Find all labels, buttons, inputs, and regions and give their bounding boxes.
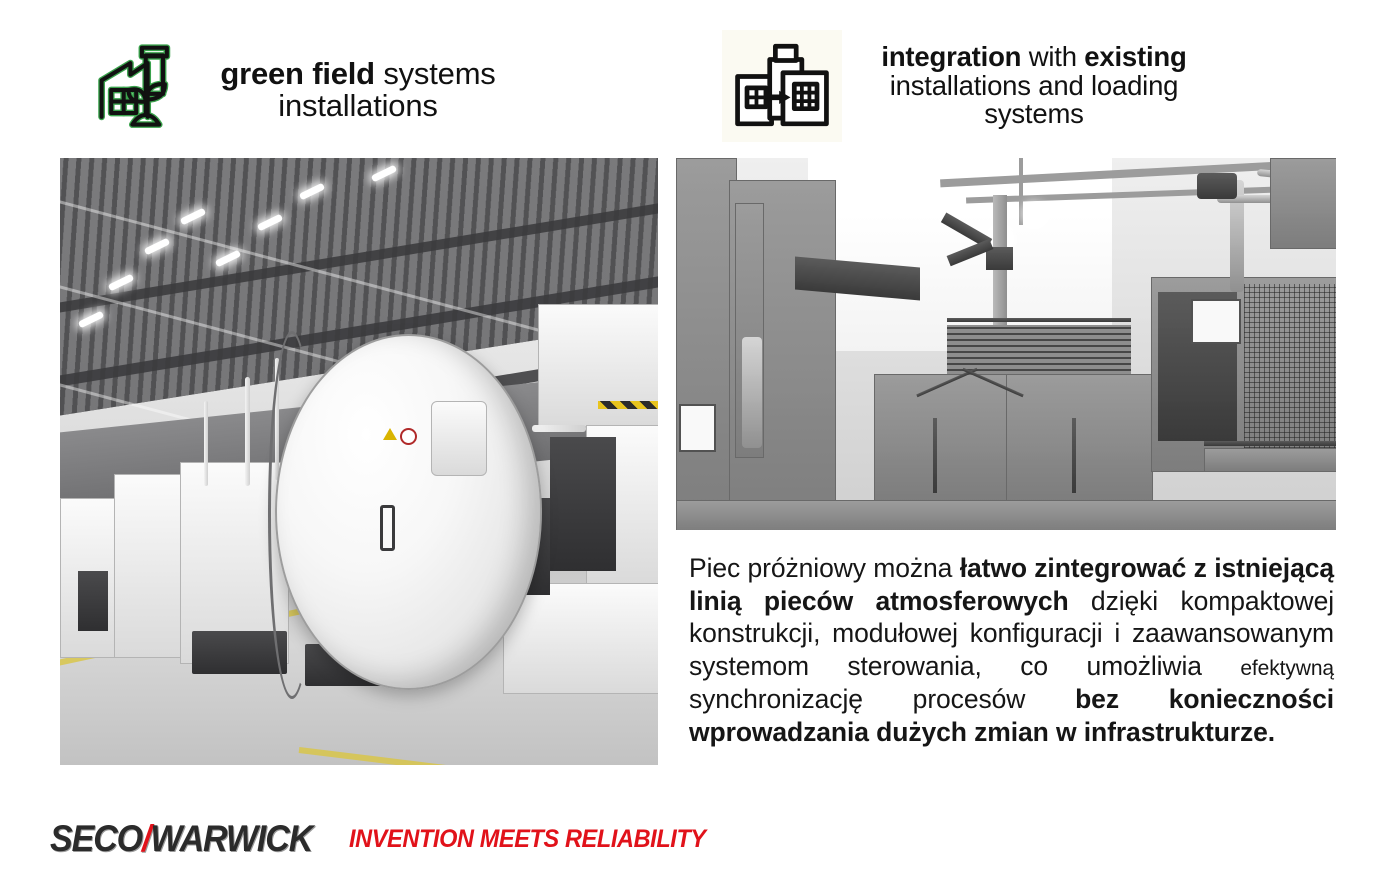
presentation-slide: green field systems installations [0, 0, 1400, 896]
green-field-vacuum-furnace-hall-photo [60, 158, 658, 765]
existing-atmosphere-furnace-line-photo [676, 158, 1336, 530]
header-integration-text: integration with existing installations … [842, 43, 1212, 129]
green-factory-plant-icon [88, 38, 192, 142]
header-integration-line2: installations and loading [856, 72, 1212, 101]
header-integration-bold1: integration [881, 41, 1021, 72]
header-green-field: green field systems installations [88, 38, 518, 142]
brand-tagline: INVENTION MEETS RELIABILITY [349, 825, 706, 854]
header-integration-line3: systems [856, 100, 1212, 129]
body-paragraph: Piec próżniowy można łatwo zintegrować z… [689, 552, 1334, 748]
header-integration-bold2: existing [1084, 41, 1186, 72]
header-green-field-bold: green field [220, 56, 375, 91]
footer-brand: SECO/WARWICK INVENTION MEETS RELIABILITY [50, 818, 729, 860]
header-integration: integration with existing installations … [722, 30, 1212, 142]
header-green-field-text: green field systems installations [192, 58, 518, 122]
logo-warwick: WARWICK [150, 818, 312, 859]
header-green-field-line2: installations [198, 90, 518, 122]
building-integration-arrow-icon [722, 30, 842, 142]
header-integration-mid: with [1021, 41, 1084, 72]
logo-seco: SECO [50, 818, 142, 859]
body-text-part-3: synchronizację procesów [689, 684, 1075, 714]
body-text-small-emphasis: efektywną [1240, 657, 1334, 680]
body-text-part-1: Piec próżniowy można [689, 553, 960, 583]
logo-slash: / [142, 818, 150, 859]
header-green-field-rest: systems [375, 56, 496, 91]
seco-warwick-logo: SECO/WARWICK [50, 818, 312, 860]
